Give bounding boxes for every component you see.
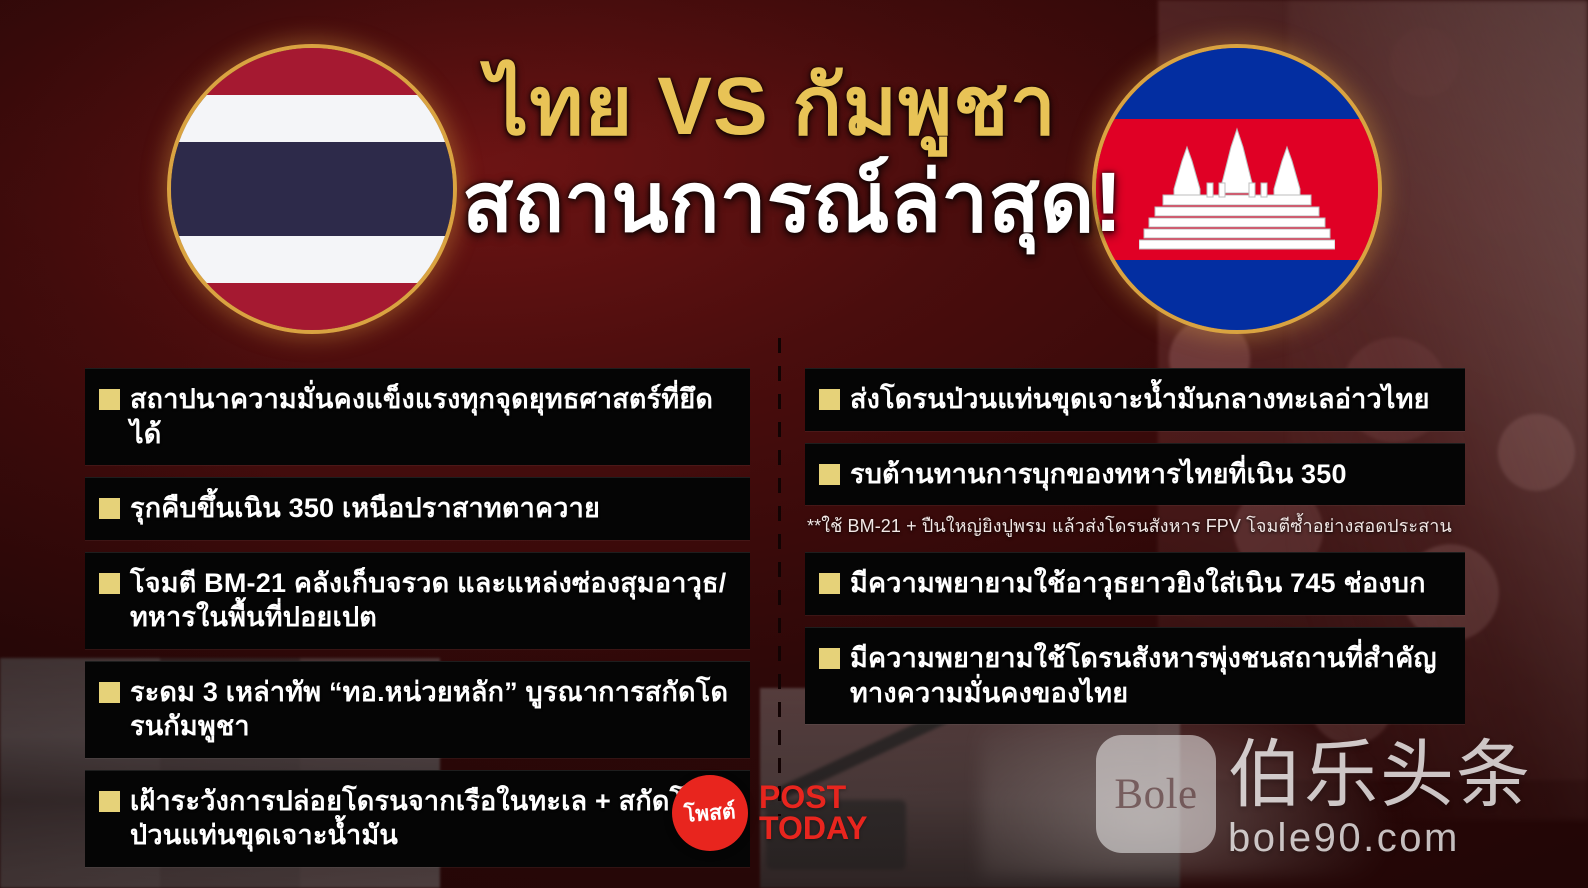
list-item: มีความพยายามใช้โดรนสังหารพุ่งชนสถานที่สำ…: [805, 627, 1465, 724]
header: ไทย VS กัมพูชา สถานการณ์ล่าสุด!: [0, 0, 1588, 345]
bullet-square-icon: [819, 389, 840, 410]
column-divider: [778, 338, 781, 816]
list-item-label: มีความพยายามใช้โดรนสังหารพุ่งชนสถานที่สำ…: [850, 641, 1451, 710]
post-today-circle-mark: โพสต์: [672, 775, 748, 851]
list-item: โจมตี BM-21 คลังเก็บจรวด และแหล่งซ่องสุม…: [85, 552, 750, 649]
cambodia-stripe-blue-top: [1096, 48, 1378, 119]
list-item-label: เฝ้าระวังการปล่อยโดรนจากเรือในทะเล + สกั…: [130, 784, 736, 853]
footnote-text: **ใช้ BM-21 + ปืนใหญ่ยิงปูพรม แล้วส่งโดร…: [807, 515, 1465, 538]
page-title-primary: ไทย VS กัมพูชา: [462, 66, 1082, 148]
list-item-label: มีความพยายามใช้อาวุธยาวยิงใส่เนิน 745 ช่…: [850, 566, 1426, 601]
post-today-word-bottom: TODAY: [759, 813, 867, 844]
thai-stripe-blue: [171, 142, 453, 236]
list-item: รุกคืบขึ้นเนิน 350 เหนือปราสาทตาควาย: [85, 477, 750, 540]
bullet-square-icon: [819, 648, 840, 669]
angkor-wat-icon: [1139, 127, 1335, 251]
bullet-square-icon: [819, 573, 840, 594]
page-title-secondary: สถานการณ์ล่าสุด!: [462, 158, 1082, 246]
list-item-label: สถาปนาความมั่นคงแข็งแรงทุกจุดยุทธศาสตร์ท…: [130, 382, 736, 451]
list-item: ระดม 3 เหล่าทัพ “ทอ.หน่วยหลัก” บูรณาการส…: [85, 661, 750, 758]
post-today-word-top: POST: [759, 782, 867, 813]
cambodia-flag-icon: [1092, 44, 1382, 334]
thailand-column: สถาปนาความมั่นคงแข็งแรงทุกจุดยุทธศาสตร์ท…: [85, 368, 750, 879]
list-item: รบต้านทานการบุกของทหารไทยที่เนิน 350: [805, 443, 1465, 506]
bole-chinese-label: 伯乐头条: [1228, 739, 1532, 810]
thai-stripe-white-top: [171, 95, 453, 142]
post-today-wordmark: POST TODAY: [759, 782, 867, 845]
thailand-flag-icon: [167, 44, 457, 334]
list-item: ส่งโดรนป่วนแท่นขุดเจาะน้ำมันกลางทะเลอ่าว…: [805, 368, 1465, 431]
post-today-logo: โพสต์ POST TODAY: [672, 775, 867, 851]
infographic-canvas: ไทย VS กัมพูชา สถานการณ์ล่าสุด! สถาปนาคว…: [0, 0, 1588, 888]
bullet-square-icon: [99, 682, 120, 703]
bullet-square-icon: [99, 389, 120, 410]
list-item: เฝ้าระวังการปล่อยโดรนจากเรือในทะเล + สกั…: [85, 770, 750, 867]
cambodia-column: ส่งโดรนป่วนแท่นขุดเจาะน้ำมันกลางทะเลอ่าว…: [805, 368, 1465, 736]
bole-badge-label: Bole: [1114, 770, 1197, 819]
list-item-label: ระดม 3 เหล่าทัพ “ทอ.หน่วยหลัก” บูรณาการส…: [130, 675, 736, 744]
list-item: มีความพยายามใช้อาวุธยาวยิงใส่เนิน 745 ช่…: [805, 552, 1465, 615]
list-item-label: รุกคืบขึ้นเนิน 350 เหนือปราสาทตาควาย: [130, 491, 600, 526]
list-item-label: ส่งโดรนป่วนแท่นขุดเจาะน้ำมันกลางทะเลอ่าว…: [850, 382, 1430, 417]
cambodia-stripe-blue-bot: [1096, 260, 1378, 331]
thai-stripe-red-bot: [171, 283, 453, 330]
bullet-square-icon: [99, 791, 120, 812]
thai-stripe-white-bot: [171, 236, 453, 283]
bole-url-label: bole90.com: [1228, 816, 1532, 861]
list-item-label: รบต้านทานการบุกของทหารไทยที่เนิน 350: [850, 457, 1347, 492]
bullet-square-icon: [819, 464, 840, 485]
thai-stripe-red-top: [171, 48, 453, 95]
title-block: ไทย VS กัมพูชา สถานการณ์ล่าสุด!: [462, 66, 1082, 246]
bullet-square-icon: [99, 573, 120, 594]
list-item: สถาปนาความมั่นคงแข็งแรงทุกจุดยุทธศาสตร์ท…: [85, 368, 750, 465]
list-item-label: โจมตี BM-21 คลังเก็บจรวด และแหล่งซ่องสุม…: [130, 566, 736, 635]
bullet-square-icon: [99, 498, 120, 519]
bole-logo-badge: Bole: [1096, 735, 1216, 853]
post-today-thai-mark: โพสต์: [683, 795, 737, 832]
bole-watermark: Bole 伯乐头条 bole90.com: [1096, 735, 1532, 861]
